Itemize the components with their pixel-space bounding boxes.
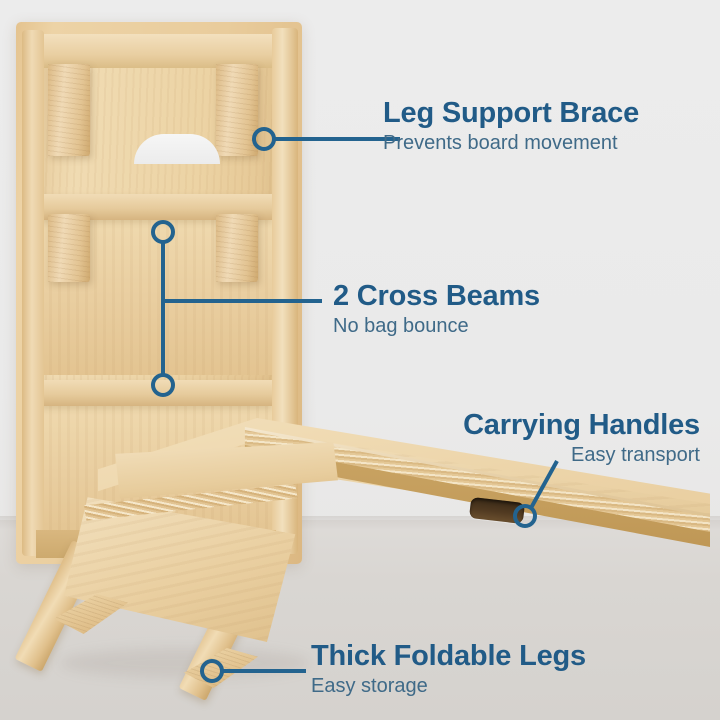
callout-title: Carrying Handles <box>434 410 700 440</box>
callout-subtitle: No bag bounce <box>333 314 540 339</box>
callout-subtitle: Easy transport <box>434 443 700 468</box>
callout-subtitle: Prevents board movement <box>383 131 639 156</box>
callout-line-leg-support-brace <box>254 129 400 149</box>
callout-label-thick-foldable-legs: Thick Foldable Legs Easy storage <box>311 641 586 699</box>
callout-label-leg-support-brace: Leg Support Brace Prevents board movemen… <box>383 98 639 156</box>
callout-subtitle: Easy storage <box>311 674 586 699</box>
callout-line-carrying-handles <box>515 461 557 526</box>
infographic-canvas: Leg Support Brace Prevents board movemen… <box>0 0 720 720</box>
callout-label-cross-beams: 2 Cross Beams No bag bounce <box>333 281 540 339</box>
callout-title: Thick Foldable Legs <box>311 641 586 671</box>
callout-line-cross-beams <box>153 222 322 395</box>
callout-line-thick-foldable-legs <box>202 661 306 681</box>
callout-label-carrying-handles: Carrying Handles Easy transport <box>434 410 700 468</box>
callout-title: Leg Support Brace <box>383 98 639 128</box>
callout-title: 2 Cross Beams <box>333 281 540 311</box>
